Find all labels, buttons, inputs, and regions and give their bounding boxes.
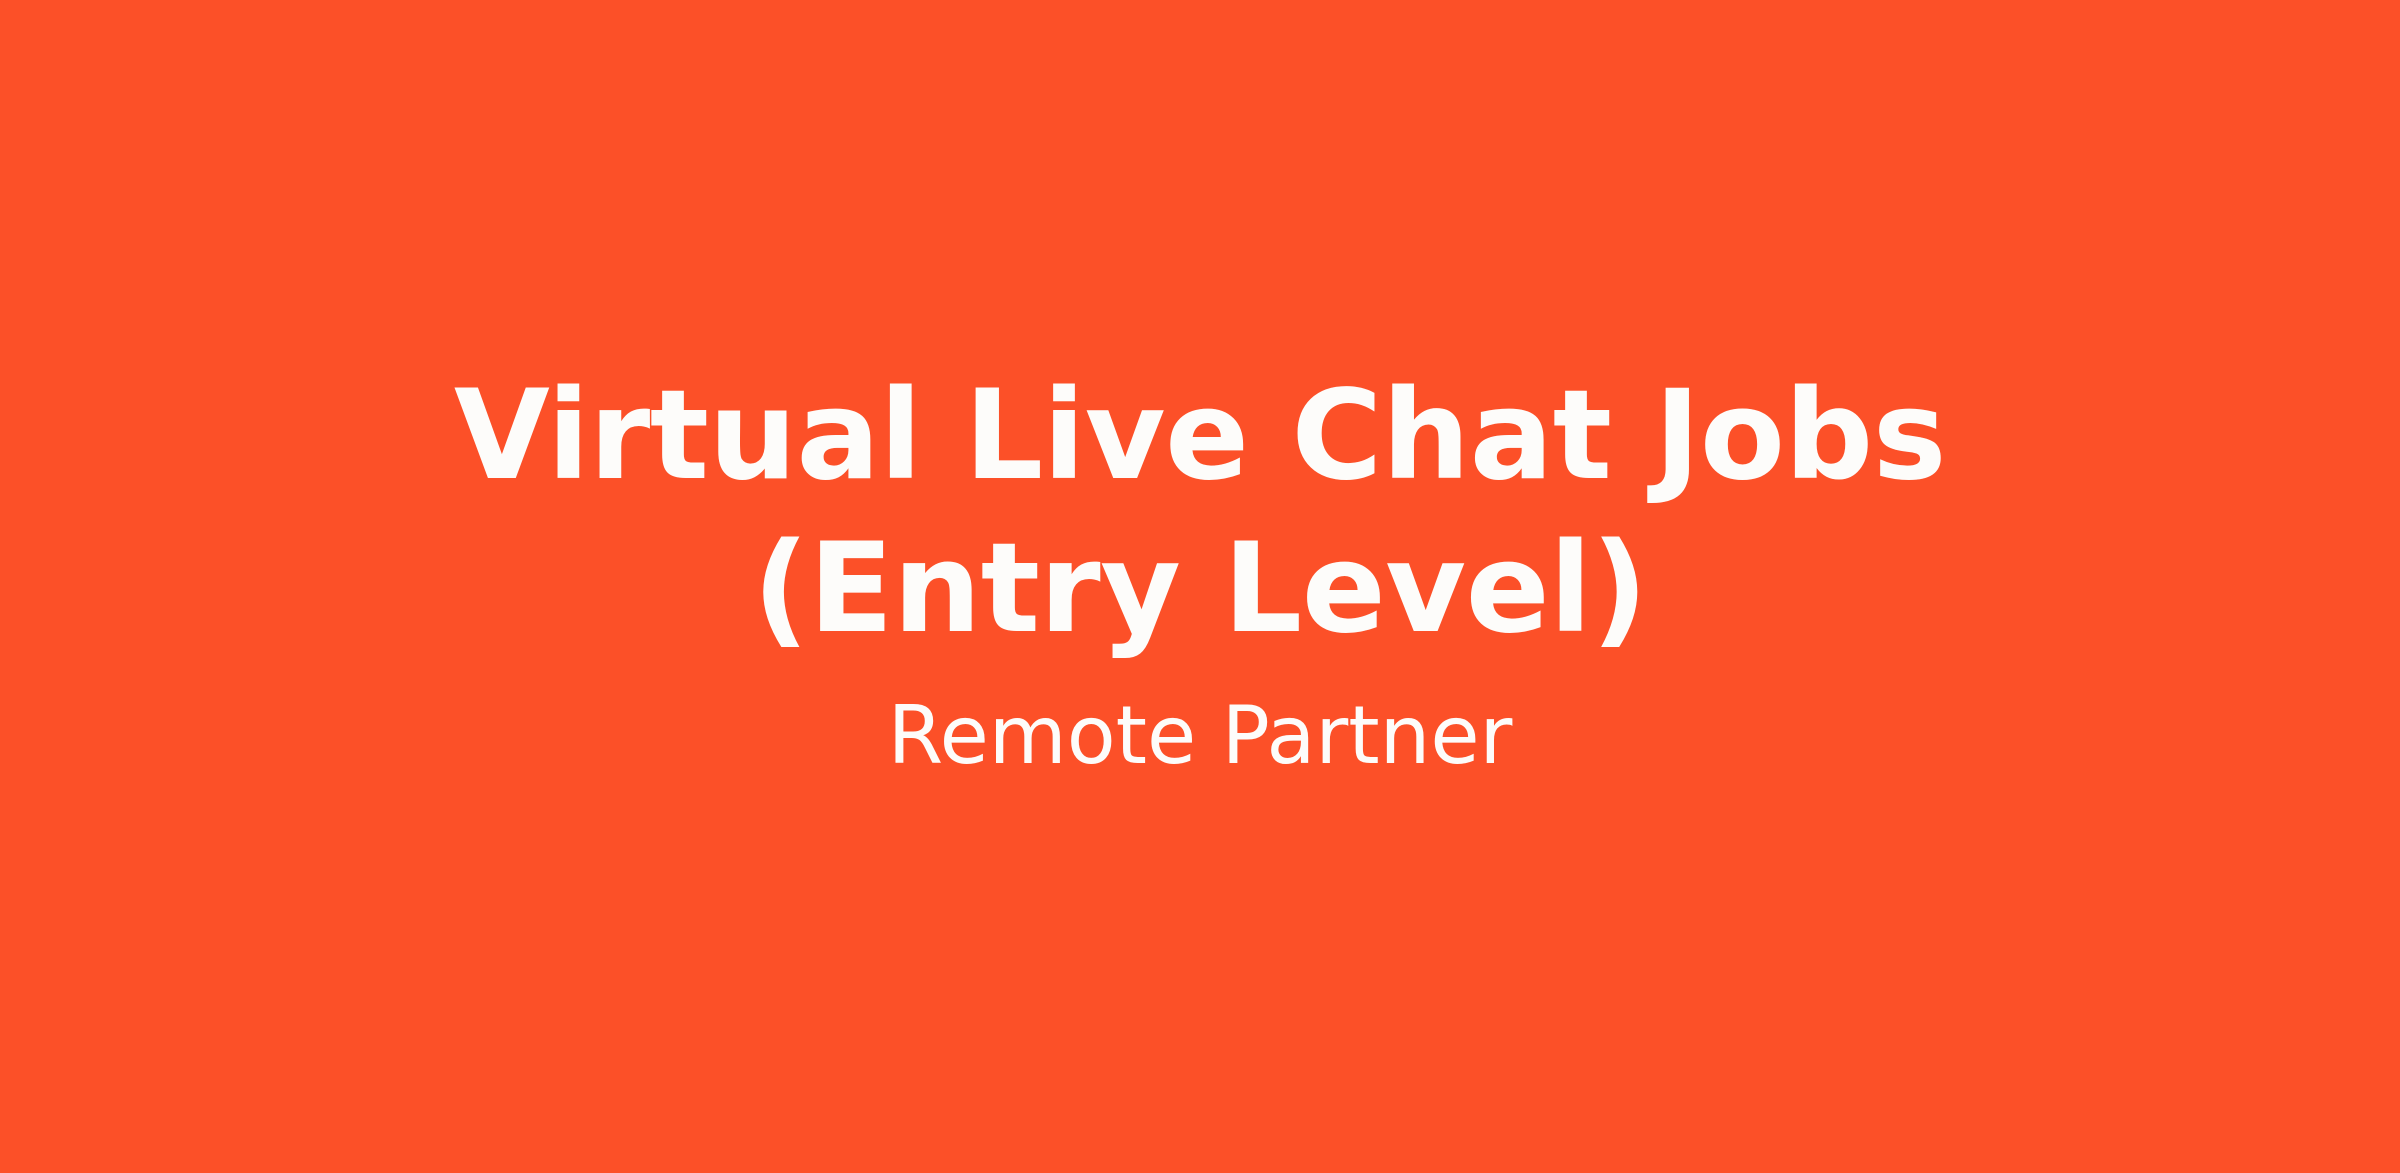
page-subtitle: Remote Partner — [320, 688, 2080, 784]
hero-banner: Virtual Live Chat Jobs (Entry Level) Rem… — [0, 0, 2400, 1173]
hero-text-block: Virtual Live Chat Jobs (Entry Level) Rem… — [320, 360, 2080, 784]
page-title: Virtual Live Chat Jobs (Entry Level) — [320, 360, 2080, 666]
